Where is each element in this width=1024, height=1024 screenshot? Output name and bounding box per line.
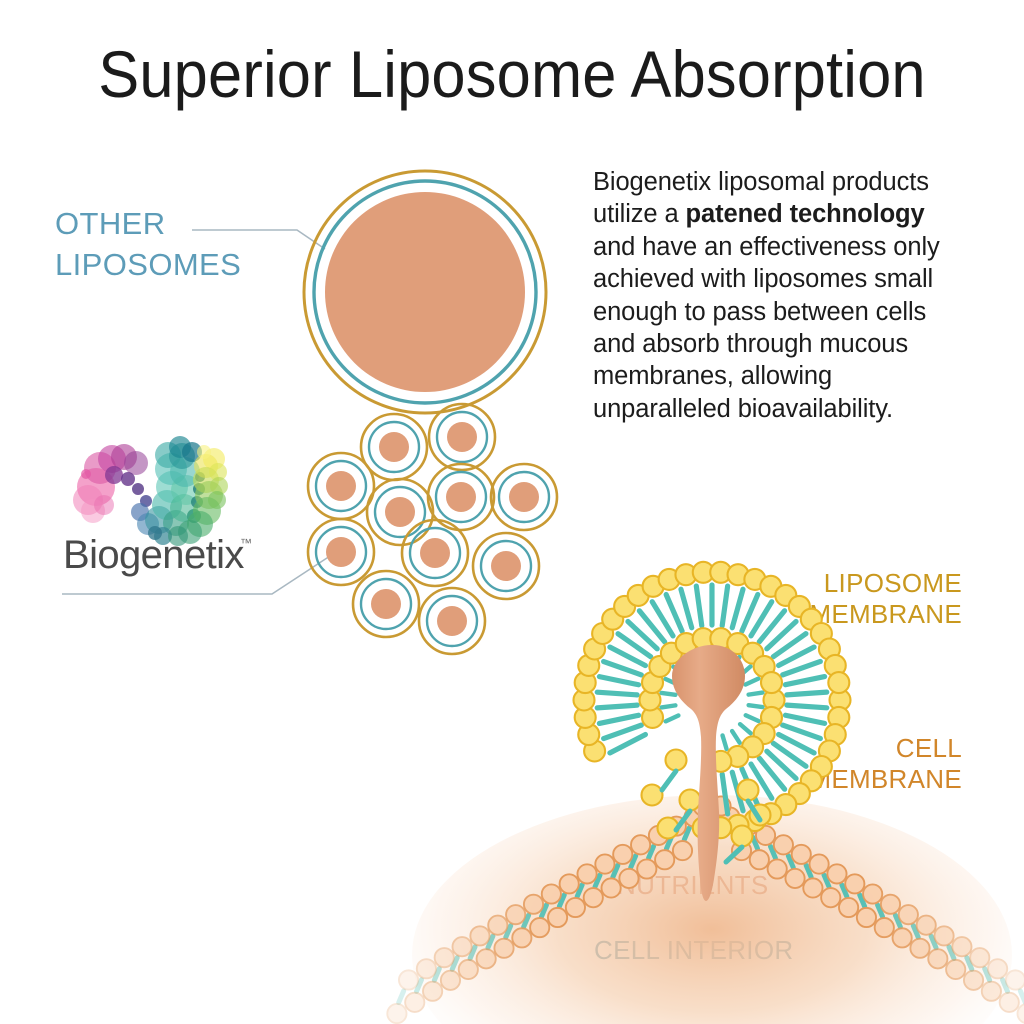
- lipid-tail: [749, 693, 763, 695]
- cell-lipid-head: [506, 905, 525, 924]
- lipid-tail: [783, 725, 821, 738]
- cell-lipid-head: [952, 937, 971, 956]
- lipid-tail: [740, 724, 751, 733]
- cell-lipid-head: [673, 841, 692, 860]
- lipid-tail: [662, 705, 676, 707]
- cell-lipid-head: [655, 850, 674, 869]
- cell-lipid-head: [512, 928, 531, 947]
- small-liposome-cluster: [308, 404, 557, 654]
- cell-lipid-head: [792, 845, 811, 864]
- cell-lipid-head: [750, 850, 769, 869]
- lipid-head: [680, 790, 701, 811]
- small-liposome: [353, 571, 419, 637]
- cell-lipid-head: [577, 864, 596, 883]
- cell-lipid-head: [477, 949, 496, 968]
- cell-lipid-head: [845, 874, 864, 893]
- large-liposome: [304, 171, 546, 413]
- cell-lipid-head: [839, 898, 858, 917]
- cell-lipid-head: [970, 948, 989, 967]
- lipid-tail: [604, 662, 642, 675]
- cell-lipid-head: [857, 908, 876, 927]
- lipid-tail: [599, 677, 638, 685]
- lipid-tail: [696, 586, 701, 626]
- cell-lipid-head: [1006, 970, 1024, 989]
- cell-lipid-head: [863, 884, 882, 903]
- cell-lipid-head: [881, 895, 900, 914]
- cell-lipid-head: [548, 908, 567, 927]
- cell-lipid-head: [821, 888, 840, 907]
- small-liposome: [473, 533, 539, 599]
- cell-lipid-head: [584, 888, 603, 907]
- lipid-tail: [749, 705, 763, 707]
- cell-lipid-head: [910, 939, 929, 958]
- cell-lipid-head: [387, 1004, 406, 1023]
- small-liposome: [308, 453, 374, 519]
- lipid-head: [761, 672, 782, 693]
- cell-lipid-head: [566, 898, 585, 917]
- cell-lipid-head: [928, 949, 947, 968]
- biogenetix-circles-mark: [73, 436, 228, 546]
- cell-lipid-head: [470, 926, 489, 945]
- cell-lipid-head: [619, 869, 638, 888]
- cell-lipid-head: [399, 970, 418, 989]
- cell-lipid-head: [768, 859, 787, 878]
- cell-lipid-head: [417, 959, 436, 978]
- cell-lipid-head: [441, 971, 460, 990]
- leader-line-other-liposomes: [192, 230, 325, 249]
- lipid-head: [828, 672, 849, 693]
- cell-lipid-tail: [399, 991, 404, 1003]
- cell-lipid-head: [875, 918, 894, 937]
- small-liposome: [491, 464, 557, 530]
- small-liposome: [419, 588, 485, 654]
- cell-lipid-head: [637, 859, 656, 878]
- lipid-tail: [785, 677, 824, 685]
- cell-lipid-head: [785, 869, 804, 888]
- cell-lipid-head: [982, 982, 1001, 1001]
- cell-lipid-head: [560, 874, 579, 893]
- cell-lipid-head: [494, 939, 513, 958]
- cell-lipid-head: [964, 971, 983, 990]
- cell-lipid-head: [774, 835, 793, 854]
- cell-lipid-head: [459, 960, 478, 979]
- cell-lipid-head: [453, 937, 472, 956]
- lipid-head: [666, 750, 687, 771]
- small-liposome: [367, 479, 433, 545]
- lipid-tail: [599, 715, 638, 723]
- lipid-tail: [666, 715, 679, 721]
- leader-line-biogenetix: [62, 556, 330, 594]
- cell-lipid-head: [423, 982, 442, 1001]
- cell-lipid-head: [602, 878, 621, 897]
- cell-lipid-head: [810, 854, 829, 873]
- lipid-tail: [746, 679, 759, 685]
- lipid-head: [738, 780, 759, 801]
- lipid-tail: [723, 735, 727, 748]
- small-liposome: [402, 520, 468, 586]
- lipid-tail: [661, 693, 675, 695]
- cell-lipid-head: [899, 905, 918, 924]
- cell-lipid-head: [631, 835, 650, 854]
- cell-lipid-head: [435, 948, 454, 967]
- lipid-tail: [787, 705, 827, 708]
- lipid-tail: [610, 735, 646, 753]
- lipid-tail: [722, 586, 727, 626]
- lipid-tail: [597, 692, 637, 695]
- cell-lipid-head: [988, 959, 1007, 978]
- cell-lipid-head: [405, 993, 424, 1012]
- cell-lipid-head: [934, 926, 953, 945]
- lipid-tail: [732, 589, 743, 628]
- lipid-tail: [732, 731, 740, 743]
- cell-lipid-head: [917, 916, 936, 935]
- lipid-head: [642, 785, 663, 806]
- lipid-tail: [597, 705, 637, 708]
- cell-lipid-head: [542, 884, 561, 903]
- cell-lipid-head: [946, 960, 965, 979]
- lipid-head: [732, 826, 753, 847]
- small-liposome: [429, 404, 495, 470]
- cell-lipid-head: [595, 854, 614, 873]
- lipid-tail: [785, 715, 824, 723]
- lipid-tail: [681, 589, 692, 628]
- small-liposome: [308, 519, 374, 585]
- lipid-tail: [662, 771, 676, 790]
- cell-lipid-head: [524, 895, 543, 914]
- lipid-tail: [604, 725, 642, 738]
- cell-lipid-head: [1000, 993, 1019, 1012]
- cell-lipid-head: [827, 864, 846, 883]
- cell-lipid-tail: [1020, 991, 1024, 1003]
- lipid-tail: [787, 692, 827, 695]
- lipid-tail: [746, 715, 759, 721]
- cell-lipid-head: [613, 845, 632, 864]
- cell-lipid-head: [530, 918, 549, 937]
- infographic-canvas: Superior Liposome Absorption OTHER LIPOS…: [0, 0, 1024, 1024]
- cell-lipid-head: [488, 916, 507, 935]
- cell-lipid-head: [803, 878, 822, 897]
- cell-lipid-head: [893, 928, 912, 947]
- diagram-artwork: [0, 0, 1024, 1024]
- lipid-tail: [783, 661, 821, 674]
